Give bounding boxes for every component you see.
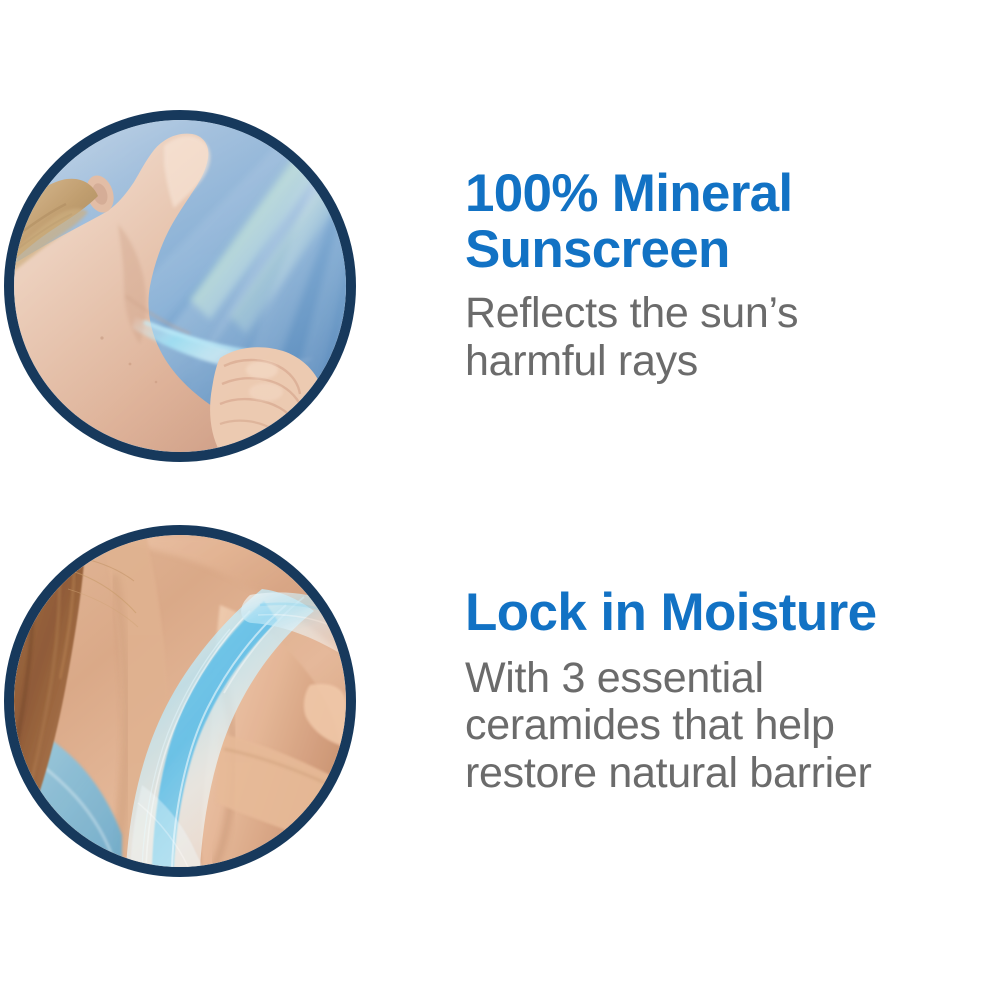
sun-rays-shoulder-photo-inner: [14, 120, 346, 452]
feature-description-2: With 3 essential ceramides that help res…: [465, 655, 980, 797]
feature-title-1: 100% Mineral Sunscreen: [465, 166, 980, 278]
feature-block-mineral-sunscreen: 100% Mineral Sunscreen Reflects the sun’…: [0, 110, 1000, 462]
feature-image-wrap-1: [0, 110, 360, 462]
feature-text-2: Lock in Moisture With 3 essential cerami…: [360, 525, 1000, 797]
product-benefits-infographic: 100% Mineral Sunscreen Reflects the sun’…: [0, 0, 1000, 1000]
feature-block-lock-in-moisture: Lock in Moisture With 3 essential cerami…: [0, 525, 1000, 877]
sun-rays-shoulder-photo: [4, 110, 356, 462]
feature-title-2: Lock in Moisture: [465, 585, 980, 641]
moisture-serum-neck-photo: [4, 525, 356, 877]
feature-image-wrap-2: [0, 525, 360, 877]
feature-text-1: 100% Mineral Sunscreen Reflects the sun’…: [360, 110, 1000, 385]
moisture-serum-neck-photo-inner: [14, 535, 346, 867]
feature-description-1: Reflects the sun’s harmful rays: [465, 290, 980, 385]
